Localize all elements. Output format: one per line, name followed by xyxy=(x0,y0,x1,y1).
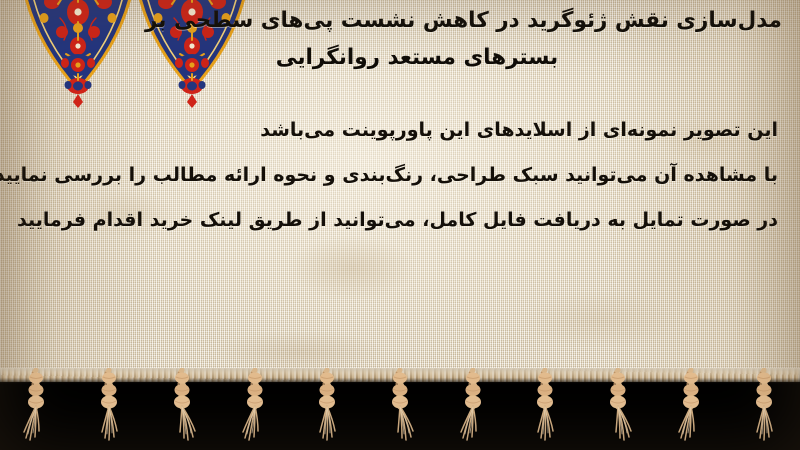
slide-title: مدل‌سازی نقش ژئوگرید در کاهش نشست پی‌های… xyxy=(12,2,782,76)
fringe-tassel xyxy=(456,368,490,446)
slide-body-line-1: این تصویر نمونه‌ای از اسلایدهای این پاور… xyxy=(18,108,778,153)
fringe-tassel xyxy=(92,368,126,446)
presentation-slide: مدل‌سازی نقش ژئوگرید در کاهش نشست پی‌های… xyxy=(0,0,800,450)
fringe-tassel xyxy=(165,368,199,446)
slide-body-line-2: با مشاهده آن می‌توانید سبک طراحی، رنگ‌بن… xyxy=(18,153,778,198)
fringe-tassel xyxy=(19,368,53,446)
slide-body-line-3: در صورت تمایل به دریافت فایل کامل، می‌تو… xyxy=(18,198,778,243)
fringe-tassel xyxy=(383,368,417,446)
slide-body-text: این تصویر نمونه‌ای از اسلایدهای این پاور… xyxy=(18,108,778,243)
fringe-tassel xyxy=(310,368,344,446)
fringe-tassel xyxy=(601,368,635,446)
fringe-tassel xyxy=(528,368,562,446)
fringe-tassel xyxy=(747,368,781,446)
slide-title-line-1: مدل‌سازی نقش ژئوگرید در کاهش نشست پی‌های… xyxy=(12,2,782,39)
carpet-knotted-fringe xyxy=(0,368,800,450)
fringe-tassel xyxy=(674,368,708,446)
slide-title-line-2: بسترهای مستعد روانگرایی xyxy=(12,39,782,76)
fringe-tassel xyxy=(238,368,272,446)
